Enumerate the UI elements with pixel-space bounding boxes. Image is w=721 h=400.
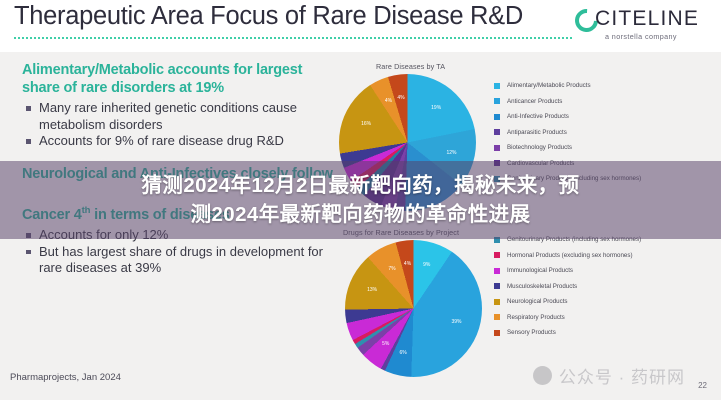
pie-slice-label: 5% — [382, 341, 389, 347]
legend-item[interactable]: Musculoskeletal Products — [494, 279, 641, 295]
legend-item[interactable]: Anti-Infective Products — [494, 109, 641, 125]
watermark: 公众号 · 药研网 — [533, 363, 685, 388]
overlay-line-2: 测2024年最新靶向药物的革命性进展 — [191, 201, 531, 228]
legend-swatch-icon — [494, 98, 500, 104]
page-number: 22 — [698, 381, 707, 390]
legend-swatch-icon — [494, 129, 500, 135]
pie-slice-label: 13% — [367, 287, 377, 293]
legend-label: Sensory Products — [507, 329, 556, 336]
pie-slice-label: 7% — [388, 266, 395, 272]
pie-slice-label: 19% — [431, 105, 441, 111]
pie-slice-label: 4% — [397, 95, 404, 101]
logo-wordmark: CITELINE — [595, 7, 699, 31]
copy-block-alimentary: Alimentary/Metabolic accounts for larges… — [22, 62, 334, 150]
legend-item[interactable]: Biotechnology Products — [494, 140, 641, 156]
pie-slice-label: 16% — [361, 121, 371, 127]
legend-item[interactable]: Neurological Products — [494, 294, 641, 310]
legend-swatch-icon — [494, 252, 500, 258]
pie-slice-label: 9% — [423, 262, 430, 268]
legend-swatch-icon — [494, 114, 500, 120]
chart-legend-drugs-by-project: Genitourinary Products (including sex ho… — [494, 232, 641, 341]
overlay-banner-text: 猜测2024年12月2日最新靶向药，揭秘未来，预 测2024年最新靶向药物的革命… — [0, 163, 721, 237]
legend-label: Neurological Products — [507, 298, 568, 305]
pie-chart-drugs-by-project: 9%39%6%5%13%7%4% — [345, 240, 482, 377]
slide-header: Therapeutic Area Focus of Rare Disease R… — [0, 0, 721, 52]
slide-canvas: Therapeutic Area Focus of Rare Disease R… — [0, 0, 721, 400]
chart-panel-drugs-by-project: Drugs for Rare Diseases by Project 9%39%… — [339, 228, 482, 377]
legend-item[interactable]: Hormonal Products (excluding sex hormone… — [494, 248, 641, 264]
legend-item[interactable]: Anticancer Products — [494, 94, 641, 110]
chart-title: Rare Diseases by TA — [376, 62, 476, 71]
legend-swatch-icon — [494, 314, 500, 320]
legend-item[interactable]: Antiparasitic Products — [494, 125, 641, 141]
page-title: Therapeutic Area Focus of Rare Disease R… — [14, 2, 523, 31]
title-divider — [14, 37, 572, 39]
list-item: Accounts for 9% of rare disease drug R&D — [22, 133, 334, 150]
legend-item[interactable]: Respiratory Products — [494, 310, 641, 326]
legend-swatch-icon — [494, 268, 500, 274]
overlay-line-1: 猜测2024年12月2日最新靶向药，揭秘未来，预 — [142, 172, 580, 199]
copy-bullets: Many rare inherited genetic conditions c… — [22, 100, 334, 150]
watermark-badge-icon — [533, 366, 552, 385]
legend-label: Immunological Products — [507, 267, 573, 274]
pie-slice-label: 39% — [451, 319, 461, 325]
legend-swatch-icon — [494, 145, 500, 151]
legend-label: Anti-Infective Products — [507, 113, 569, 120]
legend-swatch-icon — [494, 83, 500, 89]
citeline-logo: CITELINE a norstella company — [569, 6, 715, 48]
legend-label: Antiparasitic Products — [507, 129, 567, 136]
legend-label: Biotechnology Products — [507, 144, 572, 151]
legend-label: Hormonal Products (excluding sex hormone… — [507, 252, 633, 259]
legend-item[interactable]: Alimentary/Metabolic Products — [494, 78, 641, 94]
source-citation: Pharmaprojects, Jan 2024 — [10, 372, 121, 383]
legend-item[interactable]: Sensory Products — [494, 325, 641, 341]
legend-swatch-icon — [494, 299, 500, 305]
list-item: Many rare inherited genetic conditions c… — [22, 100, 334, 133]
legend-item[interactable]: Immunological Products — [494, 263, 641, 279]
legend-swatch-icon — [494, 283, 500, 289]
legend-label: Respiratory Products — [507, 314, 565, 321]
legend-label: Anticancer Products — [507, 98, 562, 105]
copy-heading: Alimentary/Metabolic accounts for larges… — [22, 62, 334, 97]
watermark-label: 公众号 · 药研网 — [559, 363, 685, 388]
legend-swatch-icon — [494, 330, 500, 336]
legend-label: Alimentary/Metabolic Products — [507, 82, 591, 89]
pie-slice-label: 6% — [400, 350, 407, 356]
list-item: But has largest share of drugs in develo… — [22, 244, 334, 277]
logo-tagline: a norstella company — [605, 32, 677, 41]
pie-slice-label: 4% — [385, 98, 392, 104]
pie-slice-label: 4% — [404, 261, 411, 267]
pie-slice-label: 12% — [446, 150, 456, 156]
legend-label: Musculoskeletal Products — [507, 283, 577, 290]
